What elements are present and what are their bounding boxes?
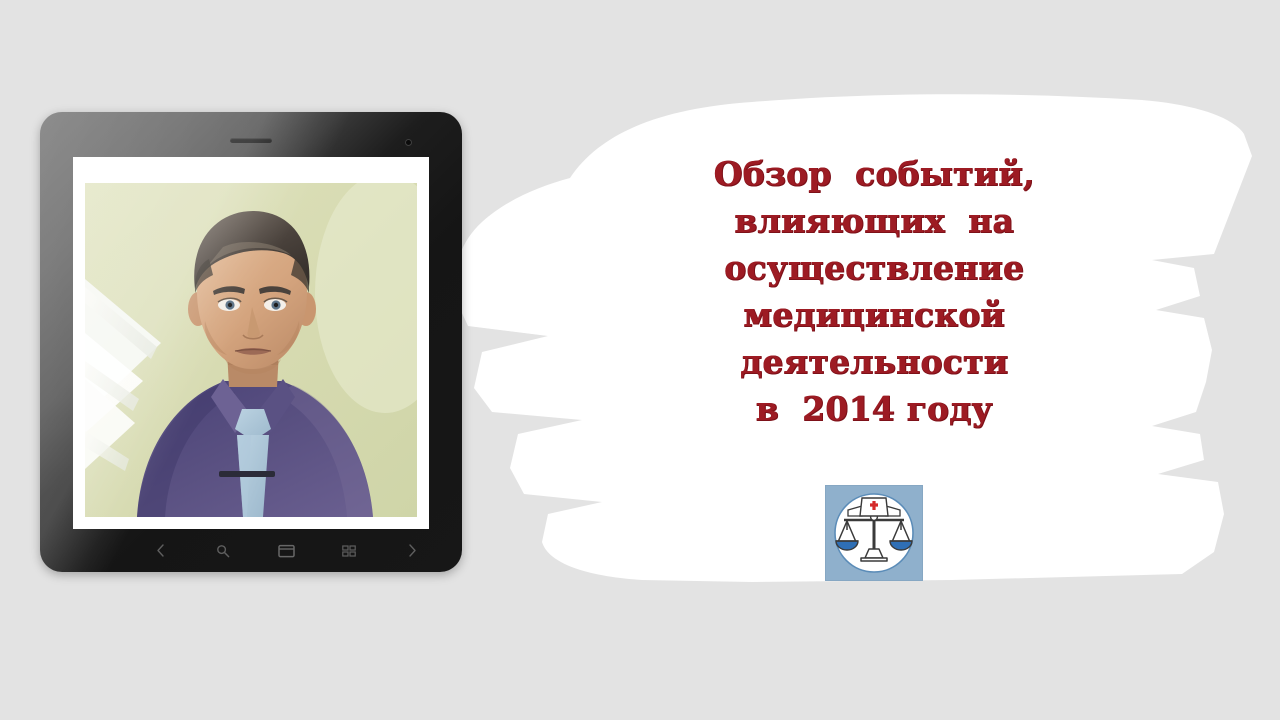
title-line-5: деятельности (648, 338, 1100, 385)
title-line-3: осуществление (648, 244, 1100, 291)
tablet-nav-bar (40, 529, 462, 572)
chevron-right-icon[interactable] (404, 542, 421, 559)
medical-law-scales-emblem (826, 486, 922, 580)
portrait-photo (85, 183, 417, 517)
chevron-left-icon[interactable] (152, 542, 169, 559)
title-line-4: медицинской (648, 291, 1100, 338)
title-line-2: влияющих на (648, 197, 1100, 244)
slide-title: Обзор событий, влияющих на осуществление… (648, 150, 1100, 432)
search-icon[interactable] (215, 542, 232, 559)
front-camera-icon (405, 139, 412, 146)
tablet-device (40, 112, 462, 572)
speaker-grille-icon (230, 138, 272, 143)
home-window-icon[interactable] (278, 542, 295, 559)
title-line-1: Обзор событий, (648, 150, 1100, 197)
tablet-screen[interactable] (73, 157, 429, 529)
title-line-6: в 2014 году (648, 385, 1100, 432)
apps-grid-icon[interactable] (341, 542, 358, 559)
presentation-slide: Обзор событий, влияющих на осуществление… (0, 0, 1280, 720)
